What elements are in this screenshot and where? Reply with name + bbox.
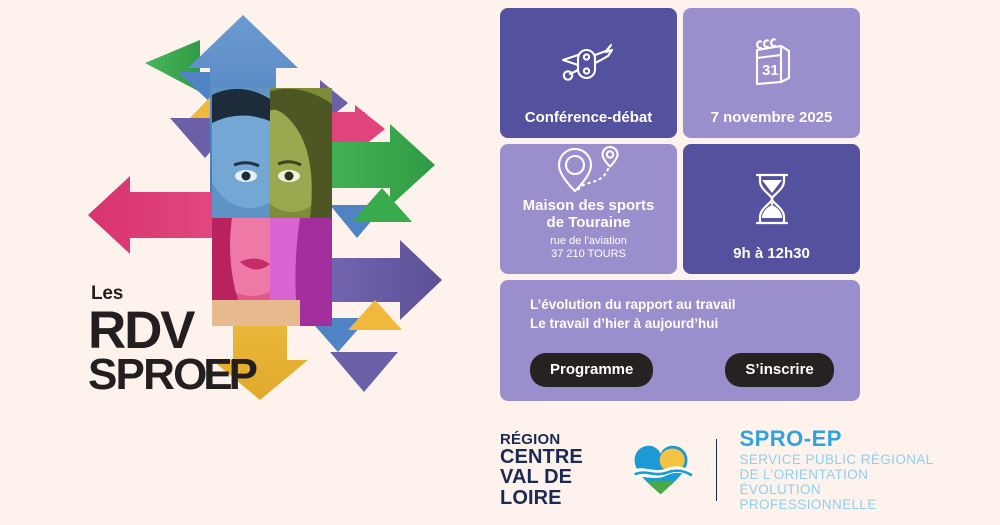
- footer-logos: RÉGION CENTRE VAL DE LOIRE SPRO-EP SERVI…: [500, 424, 940, 516]
- rdv-spro-ep-logo: Les RDV SPROEP: [88, 284, 256, 397]
- calendar-icon: 31: [747, 18, 797, 109]
- event-info-grid: Conférence-débat 31 7 novembre 2025: [500, 8, 860, 380]
- tile-event-place[interactable]: Maison des sports de Touraine rue de l'a…: [500, 144, 677, 274]
- poster-root: Les RDV SPROEP Conférence-débat: [0, 0, 1000, 525]
- cta-button-row: Programme S’inscrire: [530, 353, 830, 387]
- inscription-button[interactable]: S’inscrire: [725, 353, 833, 387]
- spro-line-3: ÉVOLUTION PROFESSIONNELLE: [739, 482, 940, 512]
- tile-event-type[interactable]: Conférence-débat: [500, 8, 677, 138]
- region-line-3: VAL DE LOIRE: [500, 467, 625, 508]
- region-wordmark: RÉGION CENTRE VAL DE LOIRE: [500, 432, 625, 508]
- logo-spr: SPR: [88, 353, 173, 397]
- tile-event-time[interactable]: 9h à 12h30: [683, 144, 860, 274]
- spro-line-2: DE L’ORIENTATION: [739, 467, 940, 482]
- spro-ep-wordmark[interactable]: SPRO-EP SERVICE PUBLIC RÉGIONAL DE L’ORI…: [739, 427, 940, 512]
- map-pin-route-icon: [553, 145, 625, 197]
- tile-event-time-label: 9h à 12h30: [733, 245, 810, 262]
- tile-event-date[interactable]: 31 7 novembre 2025: [683, 8, 860, 138]
- logo-p: P: [229, 353, 257, 397]
- spro-line-1: SERVICE PUBLIC RÉGIONAL: [739, 452, 940, 467]
- logo-oe-ligature: OE: [173, 353, 229, 397]
- multitool-icon: [558, 18, 620, 109]
- region-centre-val-de-loire-logo[interactable]: RÉGION CENTRE VAL DE LOIRE: [500, 432, 694, 508]
- logo-line-spro-ep: SPROEP: [88, 353, 256, 397]
- tile-event-place-street: rue de l'aviation: [550, 235, 627, 249]
- calendar-day-number: 31: [762, 62, 779, 79]
- cta-headline-line2: Le travail d’hier à aujourd’hui: [530, 315, 830, 334]
- programme-button[interactable]: Programme: [530, 353, 653, 387]
- cta-panel: L’évolution du rapport au travail Le tra…: [500, 280, 860, 401]
- tile-event-type-label: Conférence-débat: [525, 109, 653, 126]
- triangle-yellow-br: [348, 300, 402, 330]
- region-line-1: RÉGION: [500, 432, 625, 447]
- region-line-2: CENTRE: [500, 447, 625, 467]
- tile-event-date-label: 7 novembre 2025: [711, 109, 833, 126]
- arrows-faces-artwork: Les RDV SPROEP: [0, 0, 490, 420]
- tile-event-place-line2: de Touraine: [547, 214, 631, 231]
- cta-headline-line1: L’évolution du rapport au travail: [530, 296, 830, 315]
- triangle-purple-br: [330, 352, 398, 392]
- spro-title: SPRO-EP: [739, 427, 940, 452]
- footer-divider: [716, 439, 718, 501]
- heart-logo-icon: [631, 439, 694, 501]
- tile-event-place-line1: Maison des sports: [523, 197, 655, 214]
- hourglass-icon: [746, 154, 798, 245]
- tile-event-place-city: 37 210 TOURS: [551, 248, 626, 262]
